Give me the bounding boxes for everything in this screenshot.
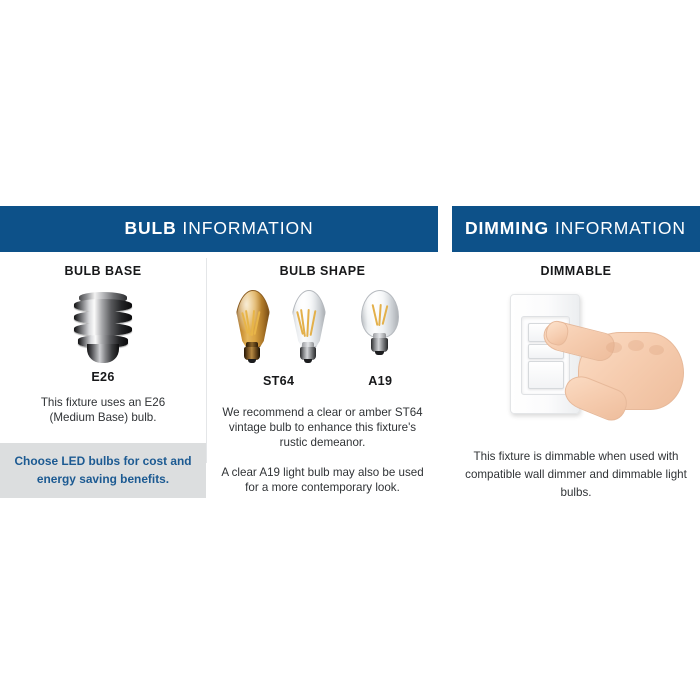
bulb-information-header: BULB INFORMATION — [0, 206, 438, 252]
bulb-base-label: E26 — [0, 370, 206, 384]
hand-illustration — [544, 312, 690, 416]
dimming-header-strong: DIMMING — [465, 218, 549, 238]
e26-screw-base-icon — [0, 292, 206, 364]
bulb-base-description: This fixture uses an E26 (Medium Base) b… — [0, 395, 206, 425]
bulb-header-strong: BULB — [124, 218, 176, 238]
bulb-shape-title: BULB SHAPE — [207, 264, 438, 278]
dimmable-title: DIMMABLE — [452, 264, 700, 278]
bulb-information-panel: BULB INFORMATION BULB BASE E26 — [0, 206, 438, 504]
bulb-panel-body: BULB BASE E26 This fixture uses an E26 (… — [0, 252, 438, 504]
dimming-description-wrap: This fixture is dimmable when used with … — [462, 447, 690, 501]
dimming-panel-body: DIMMABLE — [452, 264, 700, 516]
bulb-label-a19: A19 — [368, 374, 392, 388]
bulb-shape-column: BULB SHAPE — [207, 252, 438, 504]
bulb-header-text: BULB INFORMATION — [124, 220, 313, 238]
bulb-shape-illustrations — [207, 290, 438, 370]
bulb-label-st64: ST64 — [263, 374, 294, 388]
dimming-information-header: DIMMING INFORMATION — [452, 206, 700, 252]
bulb-shape-paragraph-2: A clear A19 light bulb may also be used … — [207, 465, 438, 495]
bulb-base-title: BULB BASE — [0, 264, 206, 278]
dimming-header-text: DIMMING INFORMATION — [465, 220, 686, 238]
dimming-header-light: INFORMATION — [549, 218, 686, 238]
bulb-shape-labels: ST64 A19 — [207, 374, 438, 394]
led-tip-text: Choose LED bulbs for cost and energy sav… — [14, 454, 191, 486]
led-tip-banner: Choose LED bulbs for cost and energy sav… — [0, 443, 206, 498]
bulb-header-light: INFORMATION — [177, 218, 314, 238]
dimming-information-panel: DIMMING INFORMATION DIMMABLE — [452, 206, 700, 504]
bulb-shape-paragraph-1: We recommend a clear or amber ST64 vinta… — [207, 405, 438, 451]
bulb-base-column: BULB BASE E26 This fixture uses an E26 (… — [0, 252, 206, 504]
dimming-description: This fixture is dimmable when used with … — [465, 450, 687, 499]
product-info-graphic: BULB INFORMATION BULB BASE E26 — [0, 0, 700, 700]
wall-dimmer-switch-with-hand-icon — [452, 288, 700, 416]
